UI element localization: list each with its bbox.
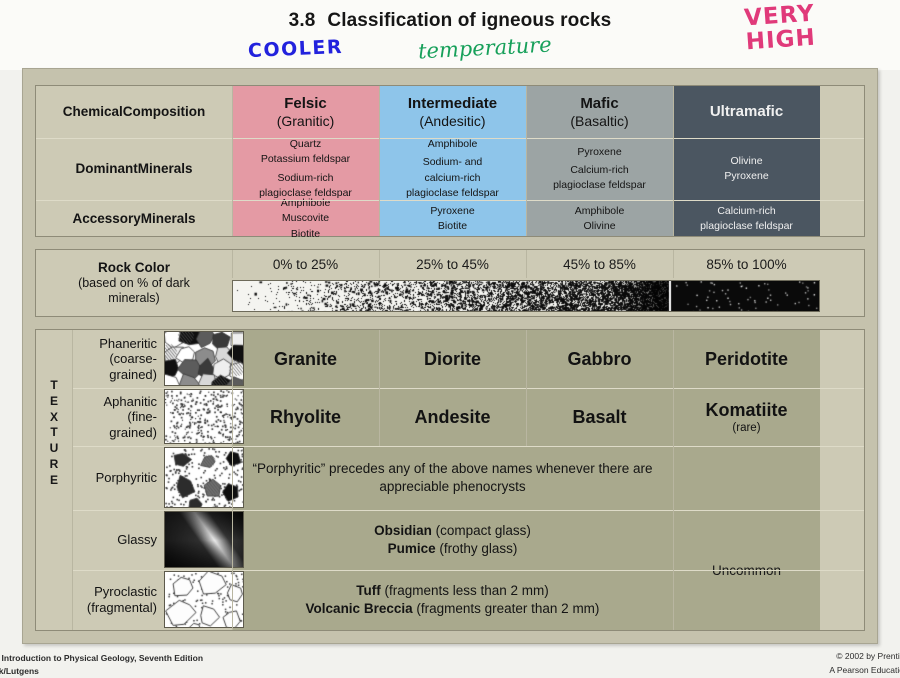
dominant-minerals-cell: PyroxeneCalcium-richplagioclase feldspar [526,138,673,200]
column-header-felsic: Felsic(Granitic) [232,86,379,138]
grid-divider [72,330,73,630]
texture-vertical-label: TEXTURE [40,378,68,489]
grid-divider [36,138,864,139]
texture-block: TEXTUREGraniteDioriteGabbroPeridotiteRhy… [35,329,865,631]
grid-divider [379,250,380,278]
rock-name-cell: Granite [232,330,379,388]
row-label: DominantMinerals [36,138,232,200]
grid-divider [526,86,527,236]
grid-divider [673,330,674,446]
grid-divider [379,330,380,446]
porphyritic-ultramafic-cell [673,446,820,510]
footer-right: © 2002 by Prentic A Pearson Educatio [829,650,900,677]
rock-color-block: Rock Color(based on % of darkminerals)0%… [35,249,865,317]
grid-divider [232,250,233,278]
footer-left-line1: n Introduction to Physical Geology, Seve… [0,652,203,665]
grid-divider [72,570,864,571]
accessory-minerals-cell: AmphiboleOlivine [526,200,673,238]
annotation-cooler: COOLER [248,36,344,62]
pyroclastic-note-cell: Tuff (fragments less than 2 mm)Volcanic … [232,570,673,630]
row-label: AccessoryMinerals [36,200,232,238]
texture-label-pyroclastic: Pyroclastic(fragmental) [72,570,164,630]
dominant-minerals-cell: AmphiboleSodium- andcalcium-richplagiocl… [379,138,526,200]
footer-left: n Introduction to Physical Geology, Seve… [0,652,203,678]
rock-color-range: 45% to 85% [526,250,673,278]
texture-label-porphyritic: Porphyritic [72,446,164,510]
accessory-minerals-cell: Calcium-richplagioclase feldspar [673,200,820,238]
rock-name-cell: Andesite [379,388,526,446]
dominant-minerals-cell: OlivinePyroxene [673,138,820,200]
accessory-minerals-cell: PyroxeneBiotite [379,200,526,238]
grid-divider [673,250,674,278]
grid-divider [526,250,527,278]
rock-color-label: Rock Color(based on % of darkminerals) [36,250,232,316]
footer-right-line2: A Pearson Educatio [829,664,900,678]
texture-label-aphanitic: Aphanitic(fine-grained) [72,388,164,446]
rock-name-cell: Komatiite(rare) [673,388,820,446]
dark-mineral-gradient-band [232,280,820,312]
column-header-ultramafic: Ultramafic [673,86,820,138]
column-header-mafic: Mafic(Basaltic) [526,86,673,138]
column-header-intermediate: Intermediate(Andesitic) [379,86,526,138]
rock-name-cell: Gabbro [526,330,673,388]
grid-divider [72,510,864,511]
texture-label-phaneritic: Phaneritic(coarse-grained) [72,330,164,388]
dominant-minerals-cell: QuartzPotassium feldsparSodium-richplagi… [232,138,379,200]
title-number: 3.8 [289,10,316,31]
row-label: ChemicalComposition [36,86,232,138]
grid-divider [72,446,864,447]
glassy-note-cell: Obsidian (compact glass)Pumice (frothy g… [232,510,673,570]
grid-divider [379,86,380,236]
grid-divider [673,446,674,630]
accessory-minerals-cell: AmphiboleMuscoviteBiotite [232,200,379,238]
annotation-very-high: VERY HIGH [743,2,817,55]
footer-left-line2: ck/Lutgens [0,665,203,678]
rock-name-cell: Diorite [379,330,526,388]
grid-divider [72,388,864,389]
grid-divider [232,330,233,630]
rock-name-cell: Peridotite [673,330,820,388]
rock-name-cell: Basalt [526,388,673,446]
title-text: Classification of igneous rocks [327,10,611,31]
rock-color-range: 85% to 100% [673,250,820,278]
grid-divider [526,330,527,446]
texture-label-glassy: Glassy [72,510,164,570]
annotation-very-high-line2: HIGH [745,26,817,55]
footer-right-line1: © 2002 by Prentic [829,650,900,664]
rock-name-cell: Rhyolite [232,388,379,446]
grid-divider [36,200,864,201]
porphyritic-note-cell: “Porphyritic” precedes any of the above … [232,446,673,510]
grid-divider [232,86,233,236]
grid-divider [673,86,674,236]
chart-panel: ChemicalCompositionDominantMineralsAcces… [22,68,878,644]
rock-color-range: 25% to 45% [379,250,526,278]
rock-color-range: 0% to 25% [232,250,379,278]
composition-block: ChemicalCompositionDominantMineralsAcces… [35,85,865,237]
